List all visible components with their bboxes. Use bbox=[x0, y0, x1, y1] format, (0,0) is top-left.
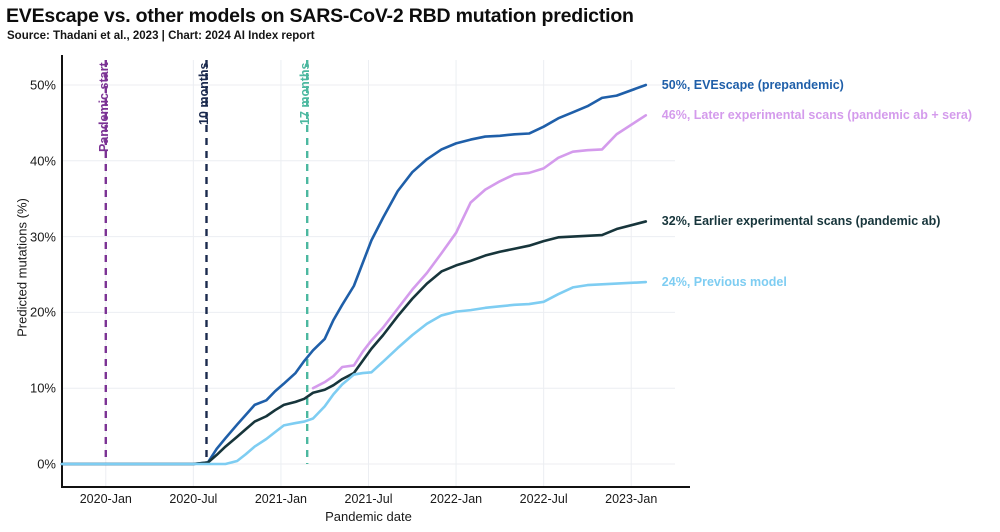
axis-lines bbox=[61, 55, 690, 487]
series-lines bbox=[62, 85, 646, 464]
y-axis-tick-label: 20% bbox=[10, 305, 56, 320]
vertical-marker-label: Pandemic start bbox=[97, 62, 111, 152]
x-axis-tick-label: 2020-Jan bbox=[80, 492, 132, 506]
chart-title: EVEscape vs. other models on SARS-CoV-2 … bbox=[6, 5, 634, 28]
x-axis-tick-label: 2020-Jul bbox=[169, 492, 217, 506]
y-axis-tick-label: 0% bbox=[10, 457, 56, 472]
series-end-label: 32%, Earlier experimental scans (pandemi… bbox=[662, 214, 941, 228]
gridlines bbox=[62, 60, 675, 487]
series-line bbox=[313, 115, 646, 388]
series-end-label: 50%, EVEscape (prepandemic) bbox=[662, 78, 844, 92]
x-axis-tick-label: 2021-Jan bbox=[255, 492, 307, 506]
chart-container: EVEscape vs. other models on SARS-CoV-2 … bbox=[0, 0, 1000, 532]
x-axis-tick-label: 2022-Jan bbox=[430, 492, 482, 506]
x-axis-tick-label: 2023-Jan bbox=[605, 492, 657, 506]
y-axis-tick-label: 40% bbox=[10, 153, 56, 168]
x-axis-tick-label: 2022-Jul bbox=[520, 492, 568, 506]
plot-area bbox=[0, 0, 1000, 532]
series-line bbox=[62, 85, 646, 464]
x-axis-tick-label: 2021-Jul bbox=[345, 492, 393, 506]
vertical-marker-label: 17 months bbox=[298, 62, 312, 125]
y-axis-tick-labels: 0%10%20%30%40%50% bbox=[0, 0, 56, 532]
y-axis-tick-label: 30% bbox=[10, 229, 56, 244]
vertical-marker-label: 10 months bbox=[197, 62, 211, 125]
series-end-label: 46%, Later experimental scans (pandemic … bbox=[662, 108, 972, 122]
y-axis-tick-label: 10% bbox=[10, 381, 56, 396]
y-axis-tick-label: 50% bbox=[10, 78, 56, 93]
x-axis-title: Pandemic date bbox=[62, 509, 675, 524]
series-end-label: 24%, Previous model bbox=[662, 275, 787, 289]
series-line bbox=[62, 221, 646, 464]
